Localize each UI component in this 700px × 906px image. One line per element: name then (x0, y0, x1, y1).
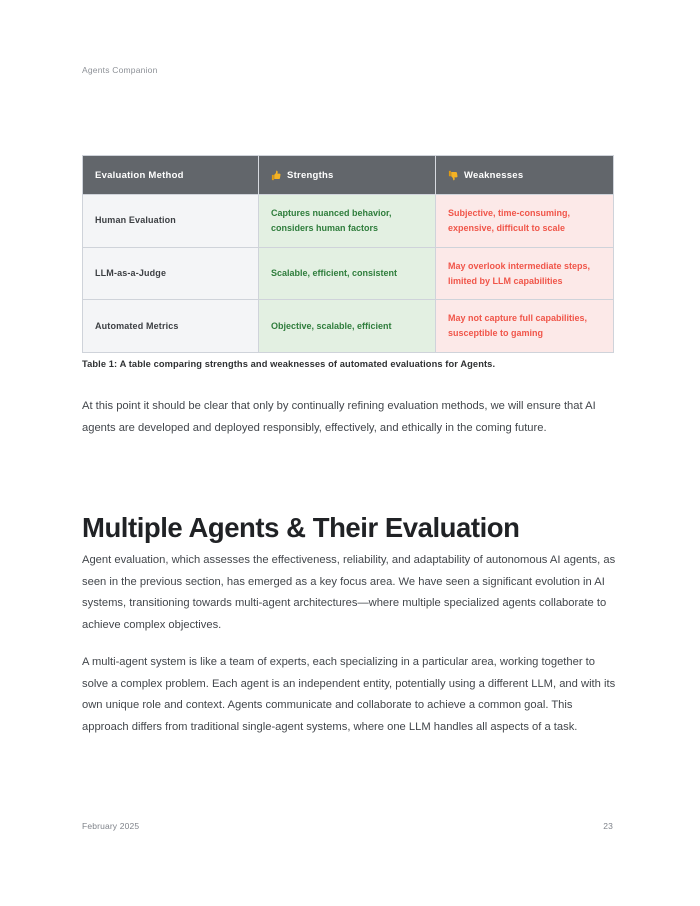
column-header-weaknesses-label: Weaknesses (464, 170, 523, 181)
cell-weaknesses: May overlook intermediate steps, limited… (436, 247, 614, 300)
table-header: Evaluation Method Strengths (83, 156, 614, 195)
cell-strengths: Captures nuanced behavior, considers hum… (259, 195, 436, 248)
page-footer: February 2025 23 (82, 821, 613, 831)
column-header-strengths: Strengths (259, 156, 436, 195)
column-header-strengths-label: Strengths (287, 170, 334, 181)
document-page: Agents Companion Evaluation Method (0, 0, 700, 906)
footer-page-number: 23 (603, 821, 613, 831)
comparison-table: Evaluation Method Strengths (82, 155, 614, 353)
section-heading: Multiple Agents & Their Evaluation (82, 511, 622, 545)
body-paragraph-1: At this point it should be clear that on… (82, 396, 620, 439)
body-paragraph-3: A multi-agent system is like a team of e… (82, 652, 620, 738)
body-paragraph-2: Agent evaluation, which assesses the eff… (82, 550, 620, 636)
thumbs-up-icon (271, 170, 282, 181)
column-header-method: Evaluation Method (83, 156, 259, 195)
table-header-row: Evaluation Method Strengths (83, 156, 614, 195)
table-body: Human Evaluation Captures nuanced behavi… (83, 195, 614, 353)
thumbs-down-icon (448, 170, 459, 181)
cell-weaknesses: Subjective, time-consuming, expensive, d… (436, 195, 614, 248)
table-row: Automated Metrics Objective, scalable, e… (83, 300, 614, 353)
table-row: Human Evaluation Captures nuanced behavi… (83, 195, 614, 248)
running-head: Agents Companion (82, 65, 158, 75)
column-header-weaknesses: Weaknesses (436, 156, 614, 195)
table-caption: Table 1: A table comparing strengths and… (82, 359, 622, 369)
cell-strengths: Scalable, efficient, consistent (259, 247, 436, 300)
cell-method: Human Evaluation (83, 195, 259, 248)
cell-strengths: Objective, scalable, efficient (259, 300, 436, 353)
column-header-method-label: Evaluation Method (95, 170, 184, 181)
cell-method: Automated Metrics (83, 300, 259, 353)
table-row: LLM-as-a-Judge Scalable, efficient, cons… (83, 247, 614, 300)
cell-weaknesses: May not capture full capabilities, susce… (436, 300, 614, 353)
cell-method: LLM-as-a-Judge (83, 247, 259, 300)
footer-date: February 2025 (82, 821, 139, 831)
comparison-table-container: Evaluation Method Strengths (82, 155, 613, 353)
